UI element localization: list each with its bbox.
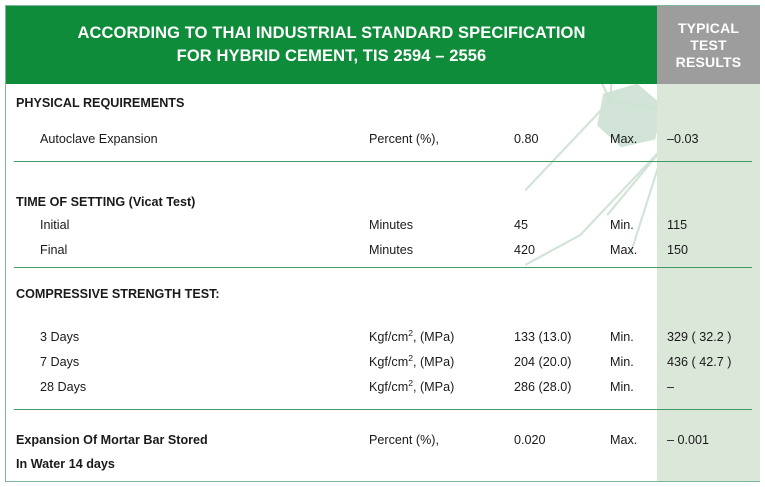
table-frame: ACCORDING TO THAI INDUSTRIAL STANDARD SP… [5, 5, 760, 482]
row-spec-value: 133 (13.0) [514, 327, 571, 347]
unit-superscript: 2 [408, 353, 413, 363]
row-typical-test-result: 436 ( 42.7 ) [667, 352, 731, 372]
row-spec-value: 286 (28.0) [514, 377, 571, 397]
unit-superscript: 2 [408, 328, 413, 338]
typical-test-results-header: TYPICAL TEST RESULTS [657, 6, 760, 84]
row-unit: Kgf/cm2, (MPa) [369, 327, 454, 347]
row-label: 28 Days [40, 377, 86, 397]
row-typical-test-result: –0.03 [667, 129, 699, 149]
section-divider [14, 267, 752, 268]
row-limit-type: Min. [610, 377, 634, 397]
table-row: 3 DaysKgf/cm2, (MPa)133 (13.0)Min.329 ( … [6, 327, 760, 347]
unit-superscript: 2 [408, 378, 413, 388]
row-unit: Minutes [369, 215, 413, 235]
row-spec-value: 0.020 [514, 430, 546, 450]
row-limit-type: Min. [610, 215, 634, 235]
row-label: Expansion Of Mortar Bar Stored [16, 430, 208, 450]
row-label-line-2: In Water 14 days [16, 454, 115, 474]
row-spec-value: 0.80 [514, 129, 539, 149]
standard-title-line-2: FOR HYBRID CEMENT, TIS 2594 – 2556 [177, 47, 487, 65]
row-unit: Percent (%), [369, 430, 439, 450]
section-divider [14, 409, 752, 410]
table-row: Expansion Of Mortar Bar StoredPercent (%… [6, 430, 760, 450]
section-heading: TIME OF SETTING (Vicat Test) [16, 192, 195, 212]
row-label: Final [40, 240, 67, 260]
table-row: Autoclave ExpansionPercent (%),0.80Max.–… [6, 129, 760, 149]
typical-test-results-header-line-3: RESULTS [676, 54, 742, 71]
row-unit: Minutes [369, 240, 413, 260]
section-heading: COMPRESSIVE STRENGTH TEST: [16, 284, 220, 304]
section-heading-row: PHYSICAL REQUIREMENTS [6, 93, 760, 113]
row-typical-test-result: 115 [667, 215, 687, 235]
table-row: 7 DaysKgf/cm2, (MPa)204 (20.0)Min.436 ( … [6, 352, 760, 372]
typical-test-results-header-line-2: TEST [690, 37, 727, 54]
row-label: Autoclave Expansion [40, 129, 158, 149]
row-limit-type: Max. [610, 430, 637, 450]
typical-test-results-header-line-1: TYPICAL [678, 20, 739, 37]
row-label: 7 Days [40, 352, 79, 372]
table-row: 28 DaysKgf/cm2, (MPa)286 (28.0)Min.– [6, 377, 760, 397]
row-limit-type: Min. [610, 327, 634, 347]
row-label: Initial [40, 215, 69, 235]
row-typical-test-result: – [667, 377, 674, 397]
row-typical-test-result: – 0.001 [667, 430, 709, 450]
standard-title-line-1: ACCORDING TO THAI INDUSTRIAL STANDARD SP… [77, 24, 585, 42]
row-limit-type: Max. [610, 129, 637, 149]
section-divider [14, 161, 752, 162]
row-unit: Percent (%), [369, 129, 439, 149]
spec-table-page: ACCORDING TO THAI INDUSTRIAL STANDARD SP… [0, 0, 765, 487]
table-header: ACCORDING TO THAI INDUSTRIAL STANDARD SP… [6, 6, 760, 84]
row-unit: Kgf/cm2, (MPa) [369, 352, 454, 372]
row-limit-type: Max. [610, 240, 637, 260]
section-heading: PHYSICAL REQUIREMENTS [16, 93, 184, 113]
row-limit-type: Min. [610, 352, 634, 372]
standard-title: ACCORDING TO THAI INDUSTRIAL STANDARD SP… [77, 22, 585, 68]
row-typical-test-result: 150 [667, 240, 688, 260]
row-label: 3 Days [40, 327, 79, 347]
row-spec-value: 204 (20.0) [514, 352, 571, 372]
row-typical-test-result: 329 ( 32.2 ) [667, 327, 731, 347]
table-row: InitialMinutes45Min.115 [6, 215, 760, 235]
standard-title-header: ACCORDING TO THAI INDUSTRIAL STANDARD SP… [6, 6, 657, 84]
section-heading-row: COMPRESSIVE STRENGTH TEST: [6, 284, 760, 304]
section-heading-row: TIME OF SETTING (Vicat Test) [6, 192, 760, 212]
table-row: FinalMinutes420Max.150 [6, 240, 760, 260]
table-row-continuation: In Water 14 days [6, 454, 760, 474]
row-spec-value: 45 [514, 215, 528, 235]
row-spec-value: 420 [514, 240, 535, 260]
row-unit: Kgf/cm2, (MPa) [369, 377, 454, 397]
table-body: PHYSICAL REQUIREMENTSAutoclave Expansion… [6, 84, 760, 481]
